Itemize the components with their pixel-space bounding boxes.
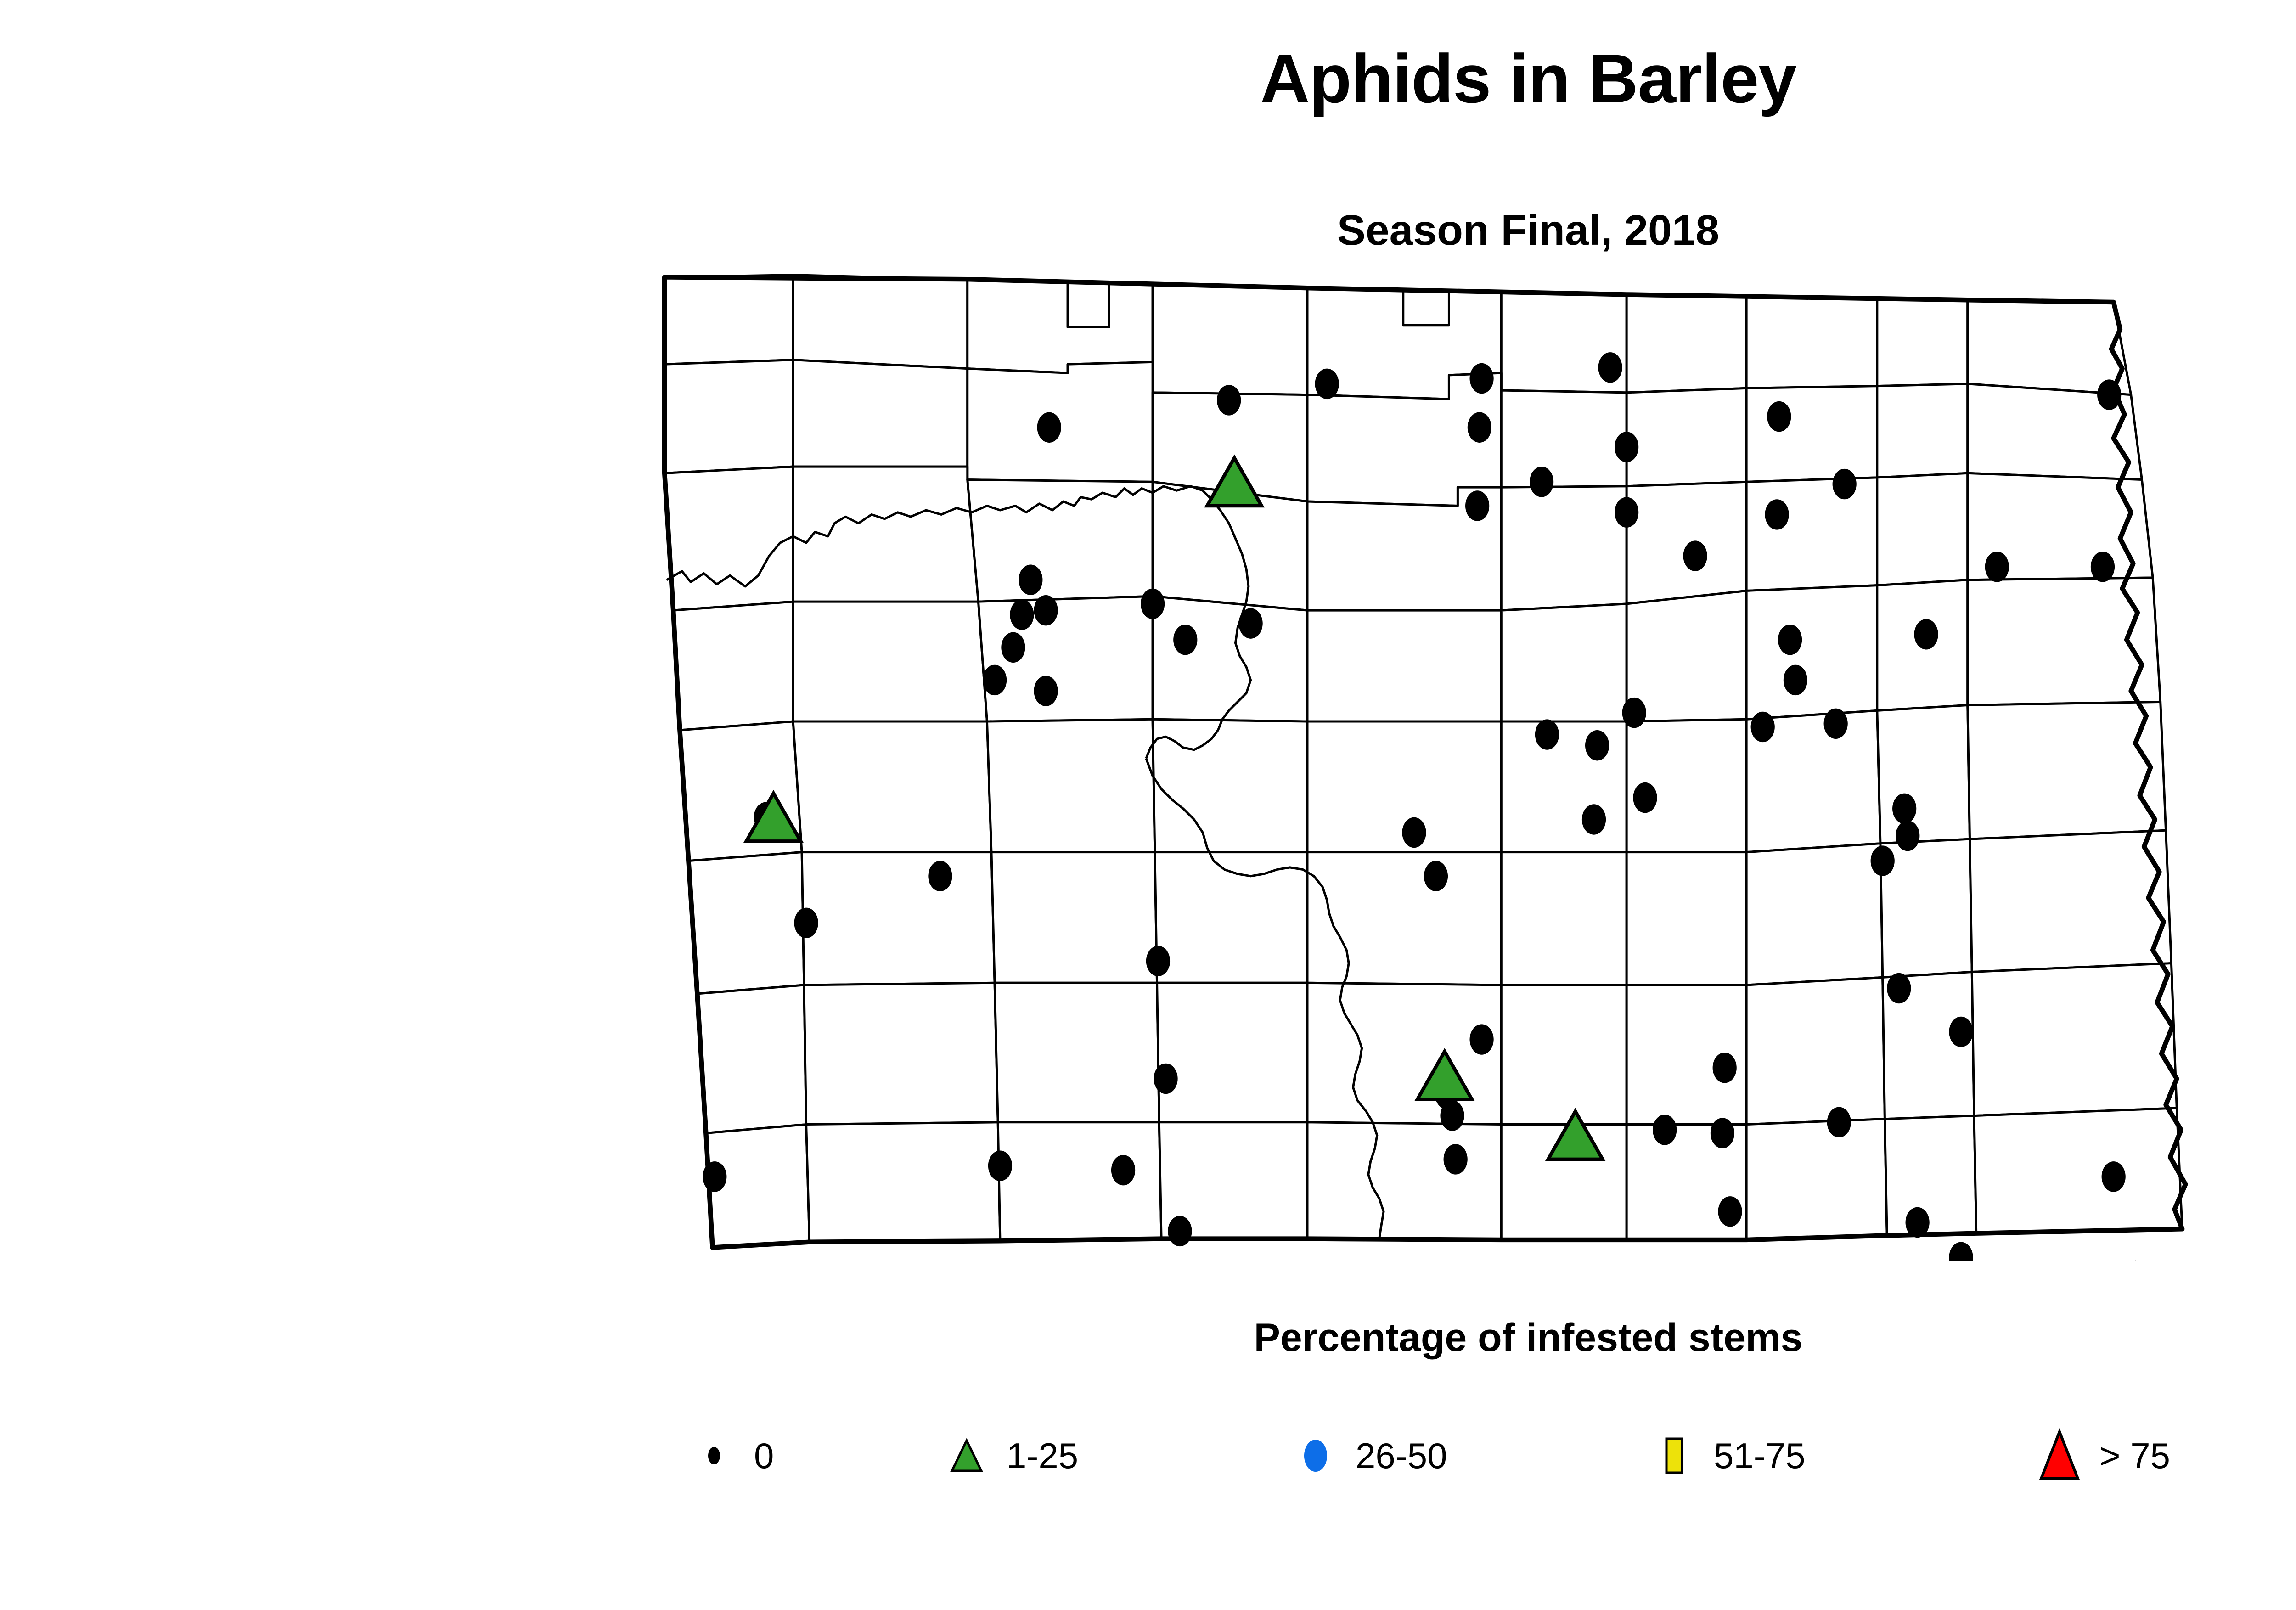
legend-item-0[interactable]: 0	[684, 1403, 774, 1509]
page-title: Aphids in Barley	[0, 44, 2296, 113]
legend-label-over-75: > 75	[2099, 1438, 2170, 1474]
yellow-square-icon	[1644, 1419, 1704, 1492]
green-triangle-icon	[937, 1419, 996, 1492]
legend-title: Percentage of infested stems	[0, 1318, 2296, 1357]
legend-label-0: 0	[754, 1438, 774, 1474]
blue-circle-icon	[1286, 1419, 1345, 1492]
legend-item-51-75[interactable]: 51-75	[1644, 1403, 1806, 1509]
legend-item-1-25[interactable]: 1-25	[937, 1403, 1078, 1509]
north-dakota-county-map[interactable]	[641, 264, 2296, 1261]
page-subtitle: Season Final, 2018	[0, 209, 2296, 252]
legend-label-51-75: 51-75	[1714, 1438, 1806, 1474]
county-boundaries	[664, 275, 2182, 1248]
legend-item-26-50[interactable]: 26-50	[1286, 1403, 1447, 1509]
legend-label-26-50: 26-50	[1356, 1438, 1447, 1474]
red-triangle-icon	[2030, 1419, 2089, 1492]
legend-label-1-25: 1-25	[1007, 1438, 1078, 1474]
black-dot-icon	[684, 1419, 744, 1492]
legend: 0 1-25 26-50 51-75 > 75	[684, 1403, 2291, 1509]
legend-item-over-75[interactable]: > 75	[2030, 1403, 2170, 1509]
map-figure: Aphids in Barley Season Final, 2018	[0, 0, 2296, 1610]
map-canvas	[641, 264, 2296, 1261]
